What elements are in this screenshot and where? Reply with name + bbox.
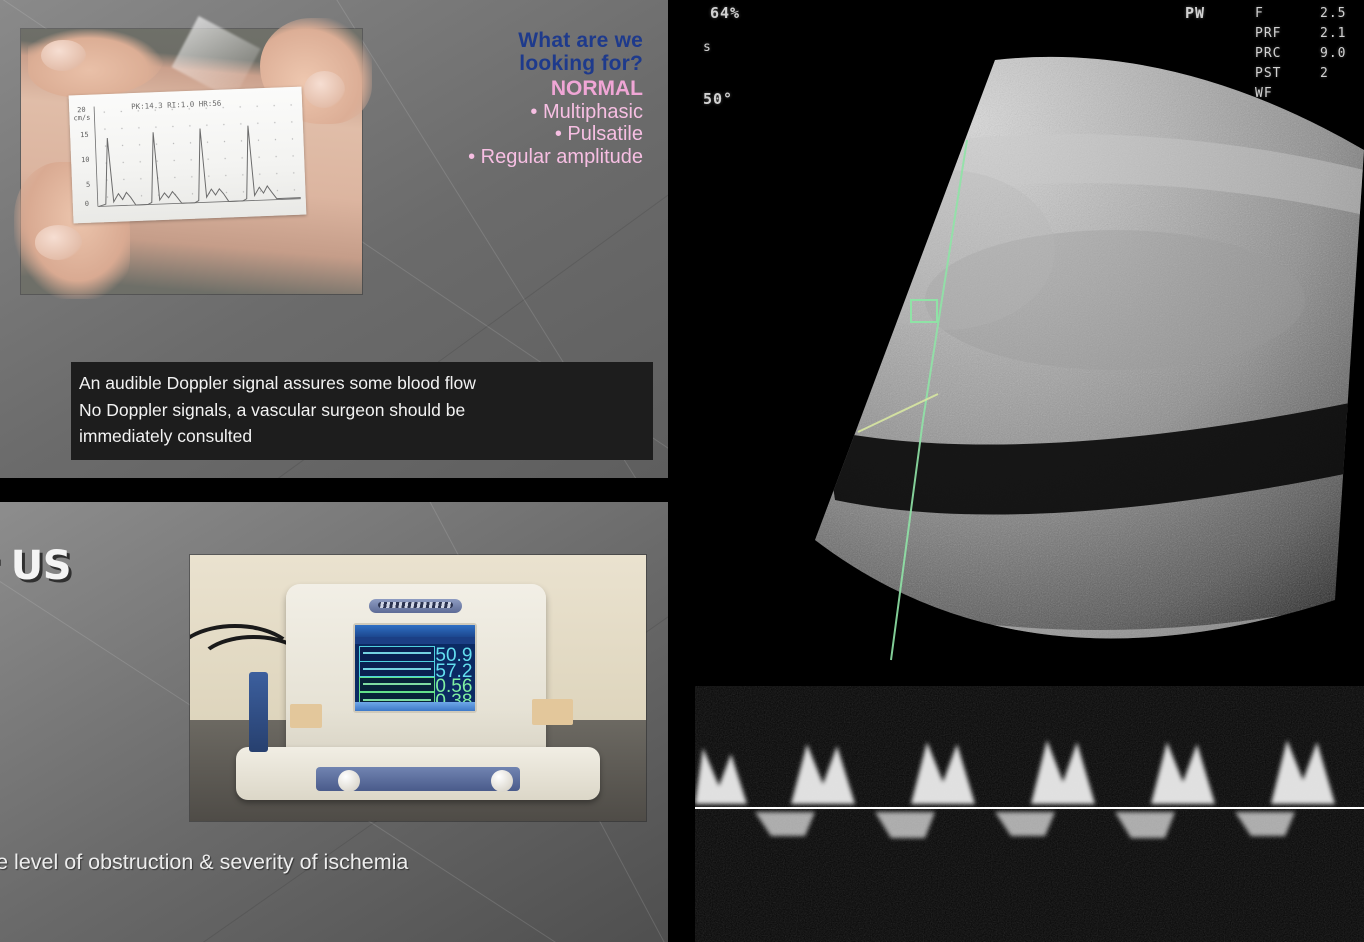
screen-statusbar[interactable] (355, 702, 475, 711)
spectral-waveform-render (695, 686, 1364, 942)
svg-text:10: 10 (81, 156, 90, 164)
osd-value-prc: 9.0 (1320, 46, 1346, 61)
vascular-doppler-monitor-photo: 50.9 57.2 0.56 0.38 (190, 555, 646, 821)
hand-holding-doppler-printout-photo: PK:14.3 RI:1.0 HR:56 20cm/s 1510 50 (21, 29, 362, 294)
fingernail-1 (41, 40, 85, 72)
slide-bottom-title: ppler US (0, 543, 71, 589)
osd-value-prf: 2.1 (1320, 26, 1346, 41)
bullet-multiphasic: • Multiphasic (313, 102, 643, 124)
osd-label-pst: PST (1255, 66, 1281, 81)
ultrasound-bmode-image: 64% s 50° PW F PRF PRC PST WF 2.5 2.1 9.… (695, 0, 1364, 682)
screen-trace-3 (359, 677, 435, 693)
device-screen[interactable]: 50.9 57.2 0.56 0.38 (353, 623, 477, 713)
device-handle (369, 599, 463, 613)
screen-toolbar[interactable] (355, 625, 475, 636)
caption-box: An audible Doppler signal assures some b… (71, 362, 653, 460)
probe-holder-right (532, 699, 573, 726)
device-body: 50.9 57.2 0.56 0.38 (286, 584, 546, 762)
screen-tabs[interactable] (355, 637, 475, 645)
osd-mode-pw: PW (1185, 4, 1205, 22)
caption-line-2: No Doppler signals, a vascular surgeon s… (79, 397, 643, 424)
doppler-waveform-chart: PK:14.3 RI:1.0 HR:56 20cm/s 1510 50 (69, 87, 307, 224)
caption-line-1: An audible Doppler signal assures some b… (79, 370, 643, 397)
bmode-sector-render (695, 0, 1364, 682)
slide-top: PK:14.3 RI:1.0 HR:56 20cm/s 1510 50 What… (0, 0, 668, 478)
doppler-probe (249, 672, 268, 752)
osd-angle-value: 50° (703, 90, 733, 108)
caption-line-3: immediately consulted (79, 423, 643, 450)
slide-bottom-subtitle: sess the level of obstruction & severity… (0, 850, 408, 875)
printout-y-axis: 20cm/s 1510 50 (73, 106, 94, 209)
screenshot-root: PK:14.3 RI:1.0 HR:56 20cm/s 1510 50 What… (0, 0, 1364, 942)
osd-label-f: F (1255, 6, 1264, 21)
osd-label-prf: PRF (1255, 26, 1281, 41)
osd-depth-unit: s (703, 40, 712, 55)
osd-label-wf: WF (1255, 86, 1273, 101)
osd-gain-value: 64% (710, 4, 740, 22)
headline-block: What are we looking for? NORMAL • Multip… (313, 30, 643, 169)
screen-trace-1 (359, 646, 435, 662)
probe-holder-left (290, 704, 322, 728)
device-base-cradle (236, 747, 601, 800)
bullet-regular-amplitude: • Regular amplitude (313, 147, 643, 169)
svg-text:0: 0 (85, 200, 90, 208)
svg-text:15: 15 (80, 131, 89, 139)
bullet-pulsatile: • Pulsatile (313, 124, 643, 146)
svg-text:cm/s: cm/s (73, 114, 90, 123)
svg-text:5: 5 (86, 181, 91, 189)
osd-label-prc: PRC (1255, 46, 1281, 61)
headline-question-line2: looking for? (313, 53, 643, 76)
headline-question-line1: What are we (313, 30, 643, 53)
doppler-printout-strip: PK:14.3 RI:1.0 HR:56 20cm/s 1510 50 (69, 87, 307, 224)
device-knob-right[interactable] (491, 770, 513, 792)
ultrasound-spectral-doppler (695, 686, 1364, 942)
osd-value-pst: 2 (1320, 66, 1329, 81)
ultrasound-panel: 64% s 50° PW F PRF PRC PST WF 2.5 2.1 9.… (695, 0, 1364, 942)
screen-trace-2 (359, 661, 435, 677)
headline-normal-label: NORMAL (313, 78, 643, 101)
osd-value-f: 2.5 (1320, 6, 1346, 21)
fingernail-2 (35, 225, 83, 259)
device-knob-left[interactable] (338, 770, 360, 792)
